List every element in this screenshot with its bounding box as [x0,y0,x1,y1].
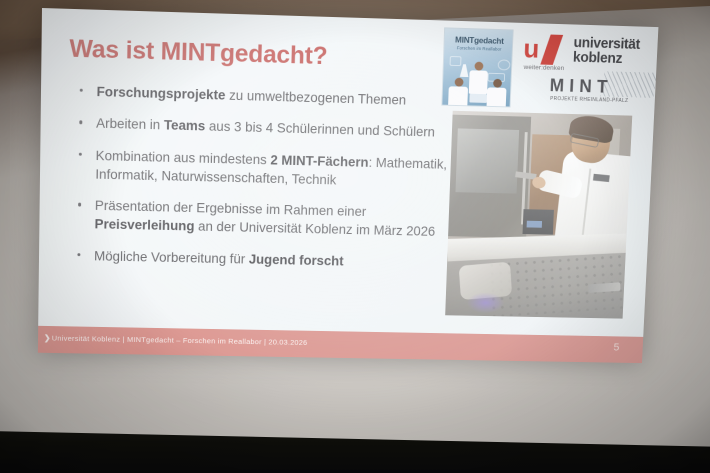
bullet-emphasis: Forschungsprojekte [97,84,226,102]
bullet-text: zu umweltbezogenen Themen [225,88,406,108]
photo-projection-haze [445,111,632,319]
bullet-emphasis: 2 MINT-Fächern [270,152,369,169]
poster-figure-center-body [469,70,488,94]
bullet-text: Arbeiten in [96,116,164,133]
bullet-text: aus 3 bis 4 Schülerinnen und Schülern [205,119,435,140]
bullet-emphasis: Preisverleihung [94,217,194,234]
university-koblenz-logo: u weiter:denken universität koblenz [522,34,652,77]
bullet-text: an der Universität Koblenz im März 2026 [194,219,435,239]
room-scene: Was ist MINTgedacht? Forschungsprojekte … [0,0,710,473]
poster-doodle-a [450,56,462,66]
poster-figure-right-head [493,79,502,88]
mint-rheinland-pfalz-logo: MINT PROJEKTE RHEINLAND-PFALZ [548,75,654,109]
mint-subtitle: PROJEKTE RHEINLAND-PFALZ [550,96,628,104]
uk-wordmark-line2: koblenz [573,50,623,67]
poster-laptop-icon [469,94,487,103]
poster-figure-right-body [486,87,506,107]
mint-wordmark: MINT [549,76,613,98]
laboratory-photo [445,111,632,319]
bullet-item: Kombination aus mindestens 2 MINT-Fächer… [70,145,460,192]
bullet-item: Arbeiten in Teams aus 3 bis 4 Schülerinn… [70,113,461,142]
poster-subtitle: Forschen im Reallabor [444,45,513,52]
wall-lower-dark-band [0,419,710,473]
slide-bullet-list: Forschungsprojekte zu umweltbezogenen Th… [68,82,462,286]
bullet-dot-icon [77,253,80,256]
bullet-dot-icon [79,121,82,124]
bullet-item: Präsentation der Ergebnisse im Rahmen ei… [69,196,458,242]
footer-arrow-icon: ❯ [44,334,51,343]
footer-text: Universität Koblenz | MINTgedacht – Fors… [52,334,308,347]
mintgedacht-poster-logo: MINTgedacht Forschen im Reallabor [441,27,513,107]
uk-wordmark: universität koblenz [573,36,641,68]
poster-flask-icon [460,64,469,77]
uk-letter-u: u [523,36,538,63]
slide-title: Was ist MINTgedacht? [69,35,327,71]
slide-canvas: Was ist MINTgedacht? Forschungsprojekte … [38,8,659,363]
uk-tagline: weiter:denken [524,64,565,72]
bullet-text: Mögliche Vorbereitung für [94,248,249,266]
poster-doodle-b [498,59,511,70]
bullet-text: Kombination aus mindestens [96,148,271,167]
bullet-emphasis: Jugend forscht [249,252,344,268]
bullet-item: Mögliche Vorbereitung für Jugend forscht [68,246,456,273]
poster-figure-center-head [474,62,483,71]
projected-slide: Was ist MINTgedacht? Forschungsprojekte … [38,8,659,363]
poster-figure-left-head [455,78,464,87]
page-number: 5 [613,342,619,353]
uk-letter-k-mark [540,35,563,65]
bullet-dot-icon [79,152,82,155]
bullet-text: Präsentation der Ergebnisse im Rahmen ei… [95,198,367,219]
poster-figure-left-body [448,86,468,107]
bullet-dot-icon [80,89,83,92]
bullet-emphasis: Teams [164,118,206,134]
bullet-item: Forschungsprojekte zu umweltbezogenen Th… [71,82,462,112]
slide-footer-bar: ❯ Universität Koblenz | MINTgedacht – Fo… [38,326,643,363]
bullet-dot-icon [78,203,81,206]
